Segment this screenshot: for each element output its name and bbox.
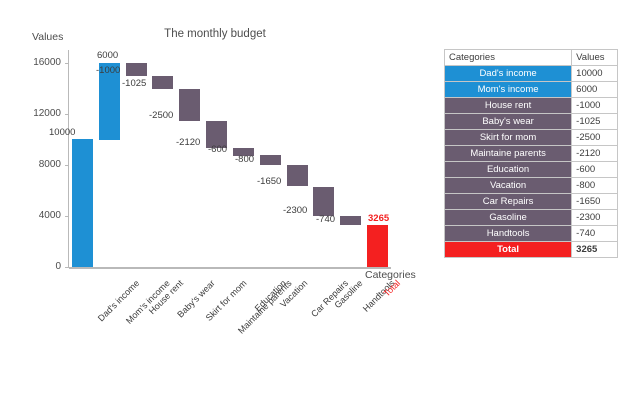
bar-value-label: -1650	[257, 176, 281, 187]
table-cell-category: Education	[445, 162, 572, 178]
y-axis-tick-label: 4000	[10, 210, 61, 221]
table-cell-value: -2500	[572, 130, 618, 146]
table-row[interactable]: Vacation-800	[445, 178, 618, 194]
chart-bar[interactable]	[340, 216, 361, 225]
table-cell-value: 10000	[572, 66, 618, 82]
table-row[interactable]: Baby's wear-1025	[445, 114, 618, 130]
y-axis-tick-label: 16000	[10, 57, 61, 68]
table-cell-value: -1650	[572, 194, 618, 210]
x-axis-line	[69, 267, 391, 269]
bar-value-label: 6000	[97, 50, 118, 61]
y-axis-title: Values	[32, 31, 63, 43]
table-cell-category: Handtools	[445, 226, 572, 242]
table-row[interactable]: Maintaine parents-2120	[445, 146, 618, 162]
table-header-row: Categories Values	[445, 50, 618, 66]
bar-value-label: -2500	[149, 110, 173, 121]
table-row[interactable]: Total3265	[445, 242, 618, 258]
bar-value-label: -800	[235, 154, 254, 165]
chart-bar[interactable]	[287, 165, 308, 186]
table-row[interactable]: Dad's income10000	[445, 66, 618, 82]
table-cell-category: Skirt for mom	[445, 130, 572, 146]
bar-value-label: -2300	[283, 205, 307, 216]
table-cell-category: Gasoline	[445, 210, 572, 226]
table-cell-category: Total	[445, 242, 572, 258]
chart-bar[interactable]	[152, 76, 173, 89]
table-row[interactable]: Mom's income6000	[445, 82, 618, 98]
chart-bar[interactable]	[260, 155, 281, 165]
table-cell-value: -740	[572, 226, 618, 242]
table-cell-category: House rent	[445, 98, 572, 114]
table-cell-category: Maintaine parents	[445, 146, 572, 162]
table-row[interactable]: Skirt for mom-2500	[445, 130, 618, 146]
bar-value-label: -740	[316, 214, 335, 225]
chart-bar[interactable]	[367, 225, 388, 267]
y-axis-tick	[65, 114, 69, 115]
table-header: Categories Values	[445, 50, 618, 66]
y-axis-tick	[65, 165, 69, 166]
y-axis-tick	[65, 267, 69, 268]
bar-value-label: 10000	[49, 127, 75, 138]
y-axis-line	[68, 50, 69, 268]
chart-bar[interactable]	[179, 89, 200, 121]
y-axis-tick-label: 8000	[10, 159, 61, 170]
table-cell-category: Mom's income	[445, 82, 572, 98]
table-cell-value: -2300	[572, 210, 618, 226]
table-row[interactable]: Education-600	[445, 162, 618, 178]
bar-value-label: -2120	[176, 137, 200, 148]
bar-value-label: -1025	[122, 78, 146, 89]
table-cell-value: -600	[572, 162, 618, 178]
table-cell-category: Dad's income	[445, 66, 572, 82]
bar-value-label: -600	[208, 144, 227, 155]
budget-data-table: Categories Values Dad's income10000Mom's…	[444, 49, 618, 258]
table-cell-category: Vacation	[445, 178, 572, 194]
table-cell-value: -800	[572, 178, 618, 194]
chart-bar[interactable]	[72, 139, 93, 267]
bar-value-label: 3265	[368, 213, 389, 224]
y-axis-tick-label: 12000	[10, 108, 61, 119]
table-cell-category: Car Repairs	[445, 194, 572, 210]
column-header-values: Values	[572, 50, 618, 66]
y-axis-tick	[65, 216, 69, 217]
y-axis-tick	[65, 63, 69, 64]
table-cell-category: Baby's wear	[445, 114, 572, 130]
chart-title: The monthly budget	[150, 28, 280, 40]
table-cell-value: 6000	[572, 82, 618, 98]
table-row[interactable]: Gasoline-2300	[445, 210, 618, 226]
table-cell-value: -2120	[572, 146, 618, 162]
chart-bar[interactable]	[126, 63, 147, 76]
column-header-categories: Categories	[445, 50, 572, 66]
table-row[interactable]: Car Repairs-1650	[445, 194, 618, 210]
table-cell-value: 3265	[572, 242, 618, 258]
chart-panel: The monthly budget Values Categories 040…	[0, 0, 440, 340]
table-row[interactable]: Handtools-740	[445, 226, 618, 242]
table-row[interactable]: House rent-1000	[445, 98, 618, 114]
table-cell-value: -1025	[572, 114, 618, 130]
table-cell-value: -1000	[572, 98, 618, 114]
bar-value-label: -1000	[96, 65, 120, 76]
y-axis-tick-label: 0	[10, 261, 61, 272]
chart-bar[interactable]	[313, 187, 334, 216]
table-body: Dad's income10000Mom's income6000House r…	[445, 66, 618, 258]
